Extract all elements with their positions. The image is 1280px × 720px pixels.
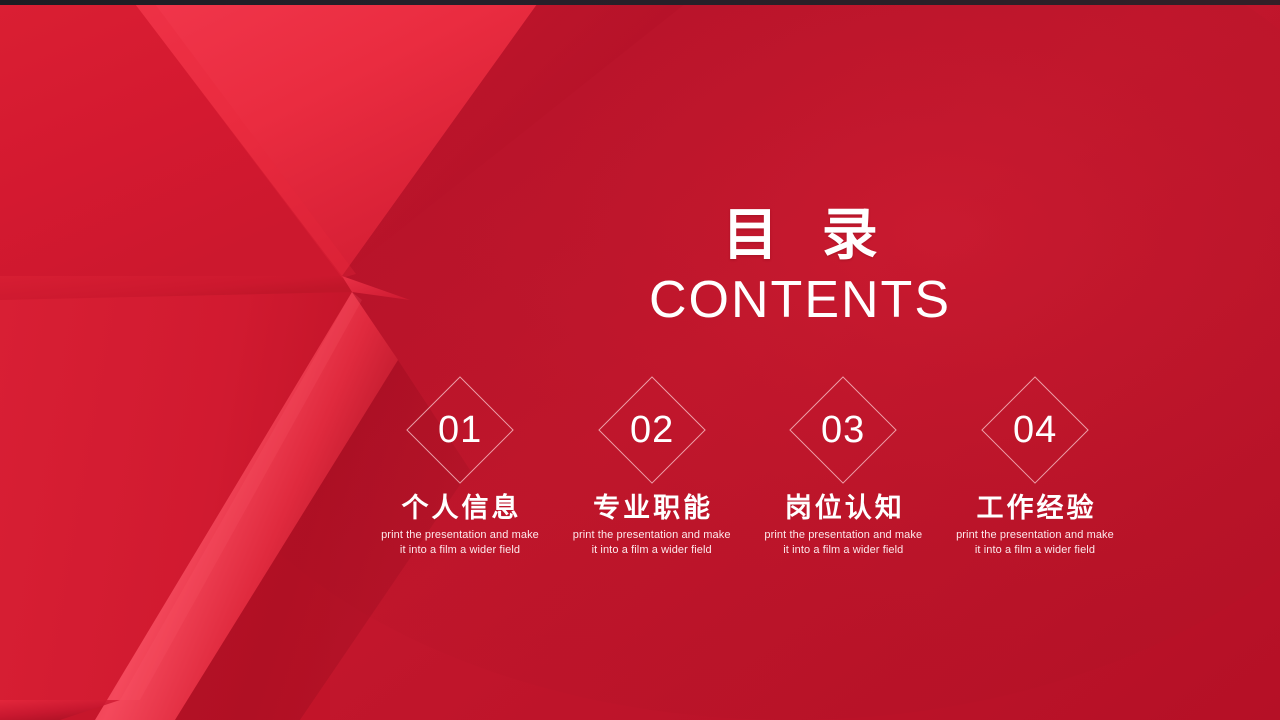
item-desc-line1-03: print the presentation and make <box>754 528 932 543</box>
item-desc-line2-03: it into a film a wider field <box>754 543 932 558</box>
presentation-slide: 目 录 CONTENTS 01 个人信息 print the presentat… <box>0 0 1280 720</box>
diamond-badge-03: 03 <box>790 376 897 483</box>
diamond-badge-04: 04 <box>981 376 1088 483</box>
item-number-04: 04 <box>1013 411 1057 449</box>
item-desc-line2-02: it into a film a wider field <box>563 543 741 558</box>
slide-heading: 目 录 CONTENTS <box>500 206 1100 331</box>
item-description-02: print the presentation and make it into … <box>563 528 741 558</box>
page-title-en: CONTENTS <box>500 271 1100 331</box>
contents-item-02[interactable]: 02 专业职能 print the presentation and make … <box>557 392 747 557</box>
item-title-02: 专业职能 <box>590 494 713 524</box>
item-description-04: print the presentation and make it into … <box>946 528 1124 558</box>
item-desc-line1-02: print the presentation and make <box>563 528 741 543</box>
diamond-badge-02: 02 <box>598 376 705 483</box>
item-description-03: print the presentation and make it into … <box>754 528 932 558</box>
item-desc-line1-04: print the presentation and make <box>946 528 1124 543</box>
item-title-03: 岗位认知 <box>782 494 905 524</box>
slide-content: 目 录 CONTENTS 01 个人信息 print the presentat… <box>0 0 1280 720</box>
item-number-02: 02 <box>630 411 674 449</box>
item-desc-line1-01: print the presentation and make <box>371 528 549 543</box>
item-desc-line2-01: it into a film a wider field <box>371 543 549 558</box>
item-description-01: print the presentation and make it into … <box>371 528 549 558</box>
item-desc-line2-04: it into a film a wider field <box>946 543 1124 558</box>
item-number-01: 01 <box>438 411 482 449</box>
contents-item-01[interactable]: 01 个人信息 print the presentation and make … <box>365 392 555 557</box>
contents-item-04[interactable]: 04 工作经验 print the presentation and make … <box>940 392 1130 557</box>
item-number-03: 03 <box>821 411 865 449</box>
contents-item-row: 01 个人信息 print the presentation and make … <box>365 392 1130 557</box>
contents-item-03[interactable]: 03 岗位认知 print the presentation and make … <box>748 392 938 557</box>
item-title-04: 工作经验 <box>973 494 1096 524</box>
item-title-01: 个人信息 <box>399 494 522 524</box>
page-title-cn: 目 录 <box>500 206 1100 265</box>
diamond-badge-01: 01 <box>406 376 513 483</box>
